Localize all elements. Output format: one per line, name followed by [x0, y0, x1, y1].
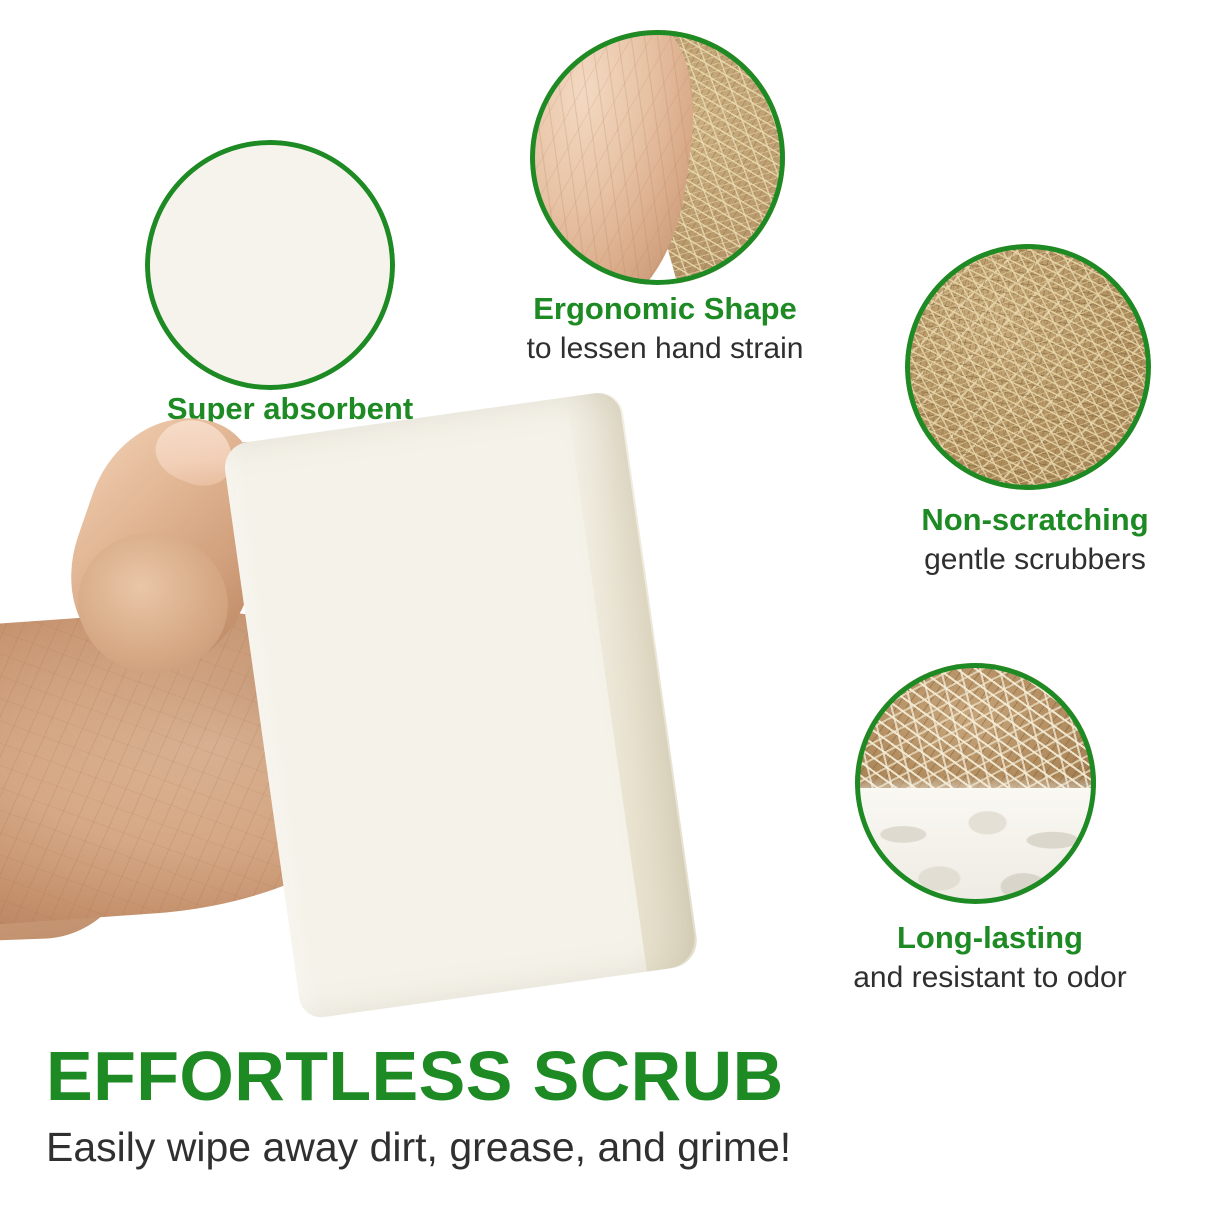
sub-headline: Easily wipe away dirt, grease, and grime…: [46, 1125, 1166, 1171]
white-sponge-texture: [145, 140, 395, 390]
callout-label-non-scratching: Non-scratching gentle scrubbers: [855, 503, 1214, 577]
coir-fiber-texture: [905, 244, 1151, 490]
main-headline: EFFORTLESS SCRUB: [46, 1040, 1166, 1113]
callout-subtext-long-lasting: and resistant to odor: [795, 960, 1185, 995]
callout-image-ergonomic-shape: [530, 30, 785, 285]
callout-image-non-scratching: [905, 244, 1151, 490]
callout-subtext-ergonomic-shape: to lessen hand strain: [470, 331, 860, 366]
cellulose-sponge: [222, 390, 699, 1020]
infographic-canvas: Super absorbent material Ergonomic Shape…: [0, 0, 1214, 1214]
callout-label-long-lasting: Long-lasting and resistant to odor: [795, 921, 1185, 995]
callout-label-ergonomic-shape: Ergonomic Shape to lessen hand strain: [470, 292, 860, 366]
callout-headline-non-scratching: Non-scratching: [855, 503, 1214, 537]
callout-image-super-absorbent: [145, 140, 395, 390]
white-sponge-layer: [855, 788, 1096, 904]
callout-image-long-lasting: [855, 663, 1096, 904]
callout-headline-ergonomic-shape: Ergonomic Shape: [470, 292, 860, 326]
hero-product-photo: [0, 395, 780, 1045]
footer-headline-block: EFFORTLESS SCRUB Easily wipe away dirt, …: [46, 1040, 1166, 1171]
callout-headline-long-lasting: Long-lasting: [795, 921, 1185, 955]
callout-subtext-non-scratching: gentle scrubbers: [855, 542, 1214, 577]
